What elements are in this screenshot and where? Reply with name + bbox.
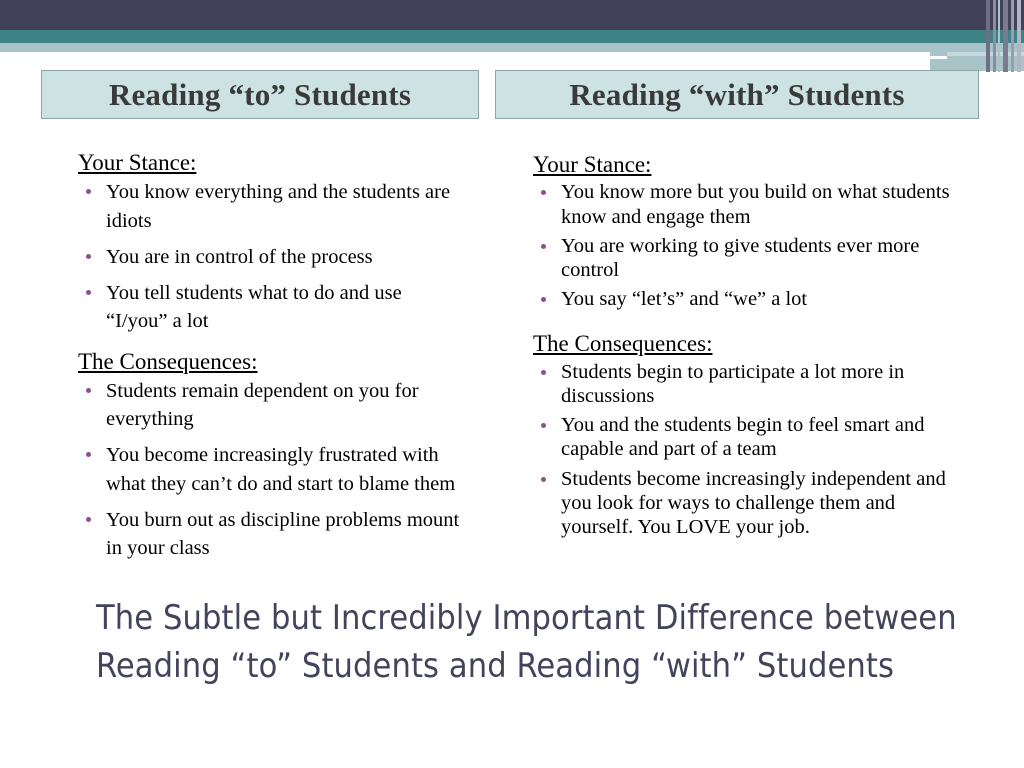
- list-item: You burn out as discipline problems moun…: [78, 506, 468, 562]
- bullet-list-consequences-right: Students begin to participate a lot more…: [533, 360, 963, 539]
- section-heading-stance-right: Your Stance:: [533, 152, 963, 178]
- section-heading-stance-left: Your Stance:: [78, 150, 468, 176]
- bullet-list-consequences-left: Students remain dependent on you for eve…: [78, 377, 468, 561]
- list-item: Students become increasingly independent…: [533, 467, 963, 540]
- header-stripe-1: [993, 0, 996, 72]
- header-stripe-0: [986, 0, 990, 72]
- section-heading-consequences-left: The Consequences:: [78, 349, 468, 375]
- list-item: You are in control of the process: [78, 243, 468, 271]
- header-hairline-upper: [820, 56, 947, 59]
- bullet-list-stance-right: You know more but you build on what stud…: [533, 180, 963, 311]
- column-title-left: Reading “to” Students: [109, 77, 411, 113]
- header-hairline-lower: [930, 56, 947, 59]
- header-band-thin-right: [947, 52, 1024, 56]
- column-title-box-right: Reading “with” Students: [495, 70, 979, 119]
- slide-caption: The Subtle but Incredibly Important Diff…: [96, 594, 976, 691]
- section-heading-consequences-right: The Consequences:: [533, 331, 963, 357]
- column-title-right: Reading “with” Students: [569, 77, 904, 113]
- header-band-pale-step: [930, 43, 1024, 71]
- list-item: You and the students begin to feel smart…: [533, 413, 963, 461]
- column-title-box-left: Reading “to” Students: [41, 70, 479, 119]
- header-band-pale-left: [0, 43, 930, 52]
- header-stripe-5: [1017, 0, 1021, 72]
- header-stripe-3: [1003, 0, 1008, 72]
- header-band-navy: [0, 0, 1024, 30]
- list-item: You know more but you build on what stud…: [533, 180, 963, 228]
- list-item: You know everything and the students are…: [78, 178, 468, 234]
- list-item: Students begin to participate a lot more…: [533, 360, 963, 408]
- content-column-left: Your Stance: You know everything and the…: [78, 150, 468, 570]
- header-stripe-cluster: [984, 0, 1024, 72]
- list-item: You are working to give students ever mo…: [533, 234, 963, 282]
- header-band-teal: [0, 30, 1024, 43]
- list-item: You say “let’s” and “we” a lot: [533, 287, 963, 311]
- list-item: Students remain dependent on you for eve…: [78, 377, 468, 433]
- header-stripe-2: [998, 0, 1000, 72]
- header-stripe-4: [1011, 0, 1014, 72]
- bullet-list-stance-left: You know everything and the students are…: [78, 178, 468, 334]
- content-column-right: Your Stance: You know more but you build…: [533, 152, 963, 544]
- list-item: You tell students what to do and use “I/…: [78, 279, 468, 335]
- list-item: You become increasingly frustrated with …: [78, 441, 468, 497]
